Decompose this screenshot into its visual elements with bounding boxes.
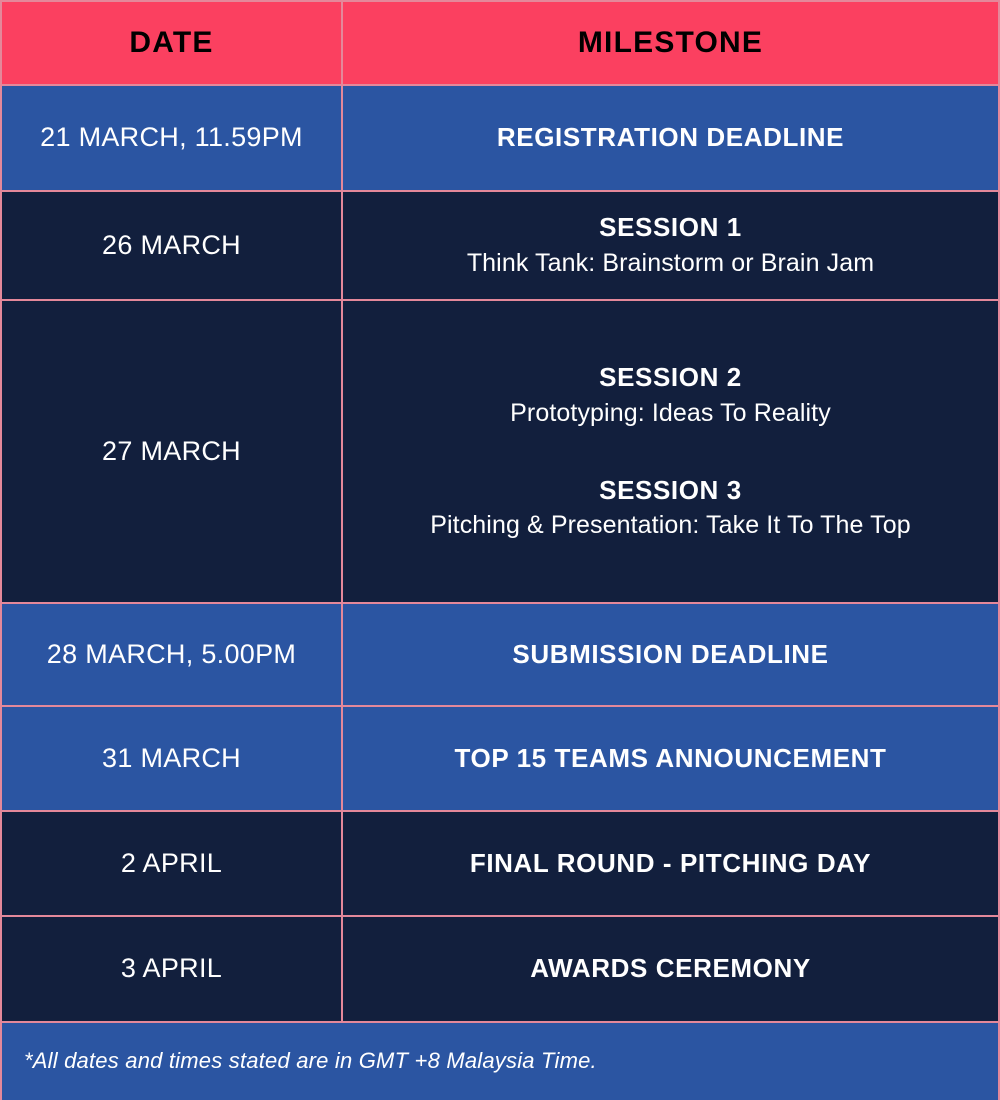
row-date-cell: 31 MARCH [2, 707, 343, 810]
session-block-2: SESSION 2 Prototyping: Ideas To Reality [510, 361, 831, 429]
row-milestone-cell: TOP 15 TEAMS ANNOUNCEMENT [343, 707, 998, 810]
milestone-title: SESSION 1 [599, 211, 742, 245]
row-date-label: 31 MARCH [102, 742, 241, 776]
row-date-cell: 3 APRIL [2, 917, 343, 1021]
table-row: 2 APRIL FINAL ROUND - PITCHING DAY [2, 812, 998, 917]
row-date-cell: 26 MARCH [2, 192, 343, 299]
milestone-subtitle: Think Tank: Brainstorm or Brain Jam [467, 247, 874, 280]
row-date-cell: 21 MARCH, 11.59PM [2, 86, 343, 190]
row-date-label: 21 MARCH, 11.59PM [40, 121, 303, 155]
row-date-cell: 2 APRIL [2, 812, 343, 915]
column-header-date-label: DATE [129, 26, 213, 60]
table-row: 26 MARCH SESSION 1 Think Tank: Brainstor… [2, 192, 998, 301]
milestone-title: TOP 15 TEAMS ANNOUNCEMENT [454, 742, 886, 776]
milestone-title: SESSION 3 [430, 474, 911, 508]
milestone-title: SUBMISSION DEADLINE [512, 638, 828, 672]
table-row: 27 MARCH SESSION 2 Prototyping: Ideas To… [2, 301, 998, 604]
table-row: 21 MARCH, 11.59PM REGISTRATION DEADLINE [2, 86, 998, 192]
row-milestone-cell: AWARDS CEREMONY [343, 917, 998, 1021]
column-header-milestone-label: MILESTONE [578, 26, 763, 60]
row-date-label: 3 APRIL [121, 952, 222, 986]
row-date-label: 28 MARCH, 5.00PM [47, 638, 296, 672]
milestone-subtitle: Pitching & Presentation: Take It To The … [430, 509, 911, 542]
table-row: 28 MARCH, 5.00PM SUBMISSION DEADLINE [2, 604, 998, 707]
footer-note-row: *All dates and times stated are in GMT +… [2, 1023, 998, 1100]
milestone-title: FINAL ROUND - PITCHING DAY [470, 847, 871, 881]
row-date-label: 27 MARCH [102, 435, 241, 469]
session-block-3: SESSION 3 Pitching & Presentation: Take … [430, 474, 911, 542]
row-date-cell: 27 MARCH [2, 301, 343, 602]
row-milestone-cell: REGISTRATION DEADLINE [343, 86, 998, 190]
row-date-label: 26 MARCH [102, 229, 241, 263]
row-milestone-cell: SESSION 2 Prototyping: Ideas To Reality … [343, 301, 998, 602]
table-row: 31 MARCH TOP 15 TEAMS ANNOUNCEMENT [2, 707, 998, 812]
row-date-label: 2 APRIL [121, 847, 222, 881]
milestone-subtitle: Prototyping: Ideas To Reality [510, 397, 831, 430]
row-date-cell: 28 MARCH, 5.00PM [2, 604, 343, 705]
milestone-title: SESSION 2 [510, 361, 831, 395]
column-header-date: DATE [2, 2, 343, 84]
timezone-note: *All dates and times stated are in GMT +… [2, 1048, 597, 1074]
row-milestone-cell: SUBMISSION DEADLINE [343, 604, 998, 705]
milestone-title: AWARDS CEREMONY [530, 952, 811, 986]
schedule-table: DATE MILESTONE 21 MARCH, 11.59PM REGISTR… [0, 0, 1000, 1100]
column-header-milestone: MILESTONE [343, 2, 998, 84]
table-row: 3 APRIL AWARDS CEREMONY [2, 917, 998, 1023]
table-header-row: DATE MILESTONE [2, 2, 998, 86]
row-milestone-cell: FINAL ROUND - PITCHING DAY [343, 812, 998, 915]
milestone-title: REGISTRATION DEADLINE [497, 121, 844, 155]
row-milestone-cell: SESSION 1 Think Tank: Brainstorm or Brai… [343, 192, 998, 299]
